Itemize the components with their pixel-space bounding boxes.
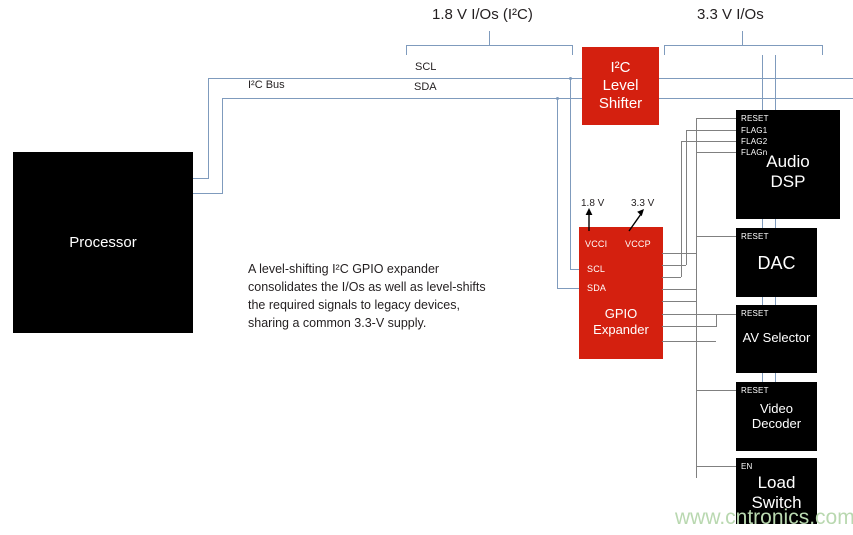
- header-1v8-label: 1.8 V I/Os (I²C): [432, 6, 533, 23]
- gpio-out-2: [662, 265, 686, 266]
- bracket-3v3-top: [664, 45, 822, 46]
- gpio-main-vertical-bus: [696, 118, 697, 478]
- av-selector-pin-reset: RESET: [741, 309, 769, 318]
- bracket-3v3-left-tick: [664, 45, 665, 55]
- gpio-pin-sda: SDA: [587, 283, 606, 294]
- gpio-out-1: [662, 253, 696, 254]
- dac-pin-reset: RESET: [741, 232, 769, 241]
- dsp-pin-reset: RESET: [741, 114, 769, 123]
- processor-label: Processor: [69, 234, 137, 251]
- dsp-pin-flag2: FLAG2: [741, 137, 767, 146]
- bracket-1v8-left-tick: [406, 45, 407, 55]
- wire-dsp-reset: [696, 118, 736, 119]
- gpio-out-8: [662, 341, 716, 342]
- junction-dot-sda: [556, 97, 559, 100]
- wire-scl-into-processor: [192, 178, 209, 179]
- wire-videodecoder-reset: [696, 390, 736, 391]
- wire-sda-branch-to-gpio: [557, 98, 558, 288]
- sda-label: SDA: [414, 81, 437, 93]
- av-selector-label: AV Selector: [736, 331, 817, 346]
- wire-dsp-bus-a-top: [762, 55, 763, 110]
- gpio-pin-vccp: VCCP: [625, 239, 651, 250]
- scl-label: SCL: [415, 61, 436, 73]
- block-i2c-level-shifter[interactable]: I²C Level Shifter: [583, 48, 658, 124]
- wire-loadswitch-en: [696, 466, 736, 467]
- riser-dsp-flag2: [681, 141, 682, 277]
- wire-dsp-flagn: [696, 152, 736, 153]
- block-av-selector[interactable]: AV Selector RESET: [736, 305, 817, 373]
- wire-sda-down-to-processor: [222, 98, 223, 193]
- wire-avselector-reset: [716, 314, 736, 315]
- wire-scl-out-levelshifter: [658, 78, 853, 79]
- bracket-1v8-stem: [489, 31, 490, 46]
- wire-vd-bus-a: [762, 373, 763, 382]
- gpio-out-5: [662, 301, 696, 302]
- wire-dac-bus-a: [762, 219, 763, 228]
- level-shifter-label: I²C Level Shifter: [599, 59, 642, 113]
- dac-label: DAC: [736, 253, 817, 274]
- gpio-out-7: [662, 326, 716, 327]
- wire-sda-out-levelshifter: [658, 98, 853, 99]
- audio-dsp-label: Audio DSP: [736, 152, 840, 191]
- gpio-out-4: [662, 289, 696, 290]
- header-3v3-label: 3.3 V I/Os: [697, 6, 764, 23]
- wire-av-bus-a: [762, 297, 763, 305]
- wire-scl-branch-to-gpio: [570, 78, 571, 269]
- block-audio-dsp[interactable]: Audio DSP RESET FLAG1 FLAG2 FLAGn: [736, 110, 840, 219]
- video-decoder-pin-reset: RESET: [741, 386, 769, 395]
- watermark-text: www.cntronics.com: [675, 506, 853, 530]
- bracket-1v8-right-tick: [572, 45, 573, 55]
- wire-dac-reset: [696, 236, 736, 237]
- bracket-3v3-stem: [742, 31, 743, 46]
- block-dac[interactable]: DAC RESET: [736, 228, 817, 297]
- wire-scl-down-to-processor: [208, 78, 209, 178]
- wire-sda-into-gpio: [557, 288, 582, 289]
- block-video-decoder[interactable]: Video Decoder RESET: [736, 382, 817, 451]
- dsp-pin-flag1: FLAG1: [741, 126, 767, 135]
- gpio-pin-vcci: VCCI: [585, 239, 607, 250]
- i2c-bus-label: I²C Bus: [248, 79, 285, 91]
- wire-av-bus-b: [775, 297, 776, 305]
- diagram-canvas: 1.8 V I/Os (I²C) 3.3 V I/Os I²C Bus SCL …: [0, 0, 853, 535]
- block-processor[interactable]: Processor: [13, 152, 193, 333]
- load-switch-pin-en: EN: [741, 462, 753, 471]
- junction-dot-scl: [569, 77, 572, 80]
- block-gpio-expander[interactable]: GPIO Expander VCCI VCCP SCL SDA: [580, 228, 662, 358]
- riser-avselector: [716, 314, 717, 327]
- wire-vd-bus-b: [775, 373, 776, 382]
- caption-text: A level-shifting I²C GPIO expander conso…: [248, 260, 494, 333]
- riser-dsp-flag1: [686, 130, 687, 265]
- supply-arrows: [575, 205, 665, 235]
- wire-sda-horizontal: [222, 98, 583, 99]
- gpio-expander-label: GPIO Expander: [580, 306, 662, 337]
- gpio-pin-scl: SCL: [587, 264, 605, 275]
- wire-sda-into-processor: [192, 193, 223, 194]
- wire-dsp-bus-b-top: [775, 55, 776, 110]
- video-decoder-label: Video Decoder: [736, 402, 817, 432]
- wire-dac-bus-b: [775, 219, 776, 228]
- dsp-pin-flagn: FLAGn: [741, 148, 767, 157]
- bracket-3v3-right-tick: [822, 45, 823, 55]
- gpio-out-3: [662, 277, 681, 278]
- wire-dsp-flag1: [686, 130, 736, 131]
- wire-dsp-flag2: [681, 141, 736, 142]
